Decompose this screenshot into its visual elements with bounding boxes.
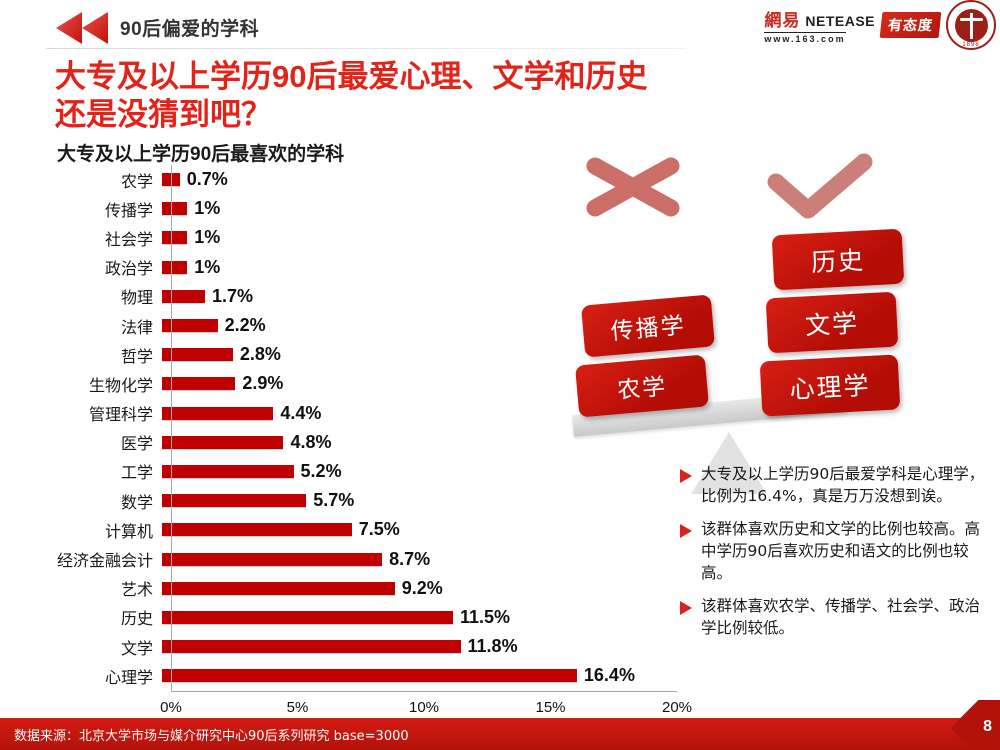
bar-row: 经济金融会计8.7% — [0, 544, 700, 573]
bar-value-label: 1% — [194, 198, 220, 219]
bar-value-label: 11.8% — [468, 636, 518, 657]
bar — [162, 436, 283, 449]
y-axis-line — [171, 165, 172, 691]
list-item: 大专及以上学历90后最爱学科是心理学，比例为16.4%，真是万万没想到诶。 — [680, 463, 990, 507]
bar-value-label: 4.4% — [280, 403, 321, 424]
x-tick-label: 15% — [535, 699, 565, 716]
bar-track: 8.7% — [162, 544, 700, 573]
bar-track: 11.8% — [162, 632, 700, 661]
footer-bar: 数据来源：北京大学市场与媒介研究中心90后系列研究 base=3000 — [0, 718, 1000, 750]
category-label: 法律 — [0, 314, 162, 338]
data-source-label: 数据来源：北京大学市场与媒介研究中心90后系列研究 base=3000 — [14, 725, 409, 744]
bar — [162, 553, 382, 566]
bar-value-label: 1.7% — [212, 286, 253, 307]
tile-right-2: 心理学 — [760, 354, 901, 416]
page-number-label: 8 — [983, 718, 992, 736]
category-label: 管理科学 — [0, 401, 162, 425]
tile-left-0: 传播学 — [581, 294, 715, 357]
category-label: 社会学 — [0, 226, 162, 250]
bar — [162, 465, 294, 478]
peking-university-seal-icon: 1898 — [946, 0, 996, 50]
category-label: 历史 — [0, 605, 162, 629]
category-label: 传播学 — [0, 197, 162, 221]
bar-track: 11.5% — [162, 603, 700, 632]
bar-value-label: 7.5% — [359, 519, 400, 540]
bar-value-label: 11.5% — [460, 607, 510, 628]
bar — [162, 611, 453, 624]
slide: 90后偏爱的学科 網易 NETEASE www.163.com 有态度 1898… — [0, 0, 1000, 750]
bar-track: 9.2% — [162, 574, 700, 603]
attitude-badge: 有态度 — [880, 12, 942, 38]
category-label: 医学 — [0, 430, 162, 454]
cross-mark-icon — [573, 152, 693, 227]
x-tick-label: 5% — [287, 699, 309, 716]
category-label: 数学 — [0, 489, 162, 513]
bar-value-label: 5.7% — [313, 490, 354, 511]
bar-value-label: 0.7% — [187, 169, 228, 190]
bar — [162, 640, 461, 653]
category-label: 政治学 — [0, 255, 162, 279]
bar — [162, 261, 187, 274]
bar-row: 艺术9.2% — [0, 574, 700, 603]
insight-list: 大专及以上学历90后最爱学科是心理学，比例为16.4%，真是万万没想到诶。该群体… — [680, 463, 990, 650]
bar-value-label: 16.4% — [584, 665, 635, 686]
bar-value-label: 2.2% — [225, 315, 266, 336]
netease-en-label: NETEASE — [805, 13, 875, 29]
bar-row: 数学5.7% — [0, 486, 700, 515]
bar — [162, 669, 577, 682]
bar — [162, 290, 205, 303]
x-tick-label: 20% — [662, 699, 692, 716]
bar — [162, 348, 233, 361]
category-label: 生物化学 — [0, 372, 162, 396]
category-label: 文学 — [0, 635, 162, 659]
category-label: 计算机 — [0, 518, 162, 542]
category-label: 农学 — [0, 168, 162, 192]
triangle-bullet-icon — [680, 469, 692, 483]
header-divider — [46, 48, 686, 49]
category-label: 艺术 — [0, 576, 162, 600]
category-label: 物理 — [0, 284, 162, 308]
tile-right-1: 文学 — [766, 292, 899, 354]
bar-row: 历史11.5% — [0, 603, 700, 632]
bar-track: 7.5% — [162, 515, 700, 544]
list-item: 该群体喜欢农学、传播学、社会学、政治学比例较低。 — [680, 595, 990, 639]
x-tick-label: 0% — [160, 699, 182, 716]
netease-url-label: www.163.com — [764, 32, 845, 44]
tile-right-0: 历史 — [772, 229, 905, 291]
list-item-text: 大专及以上学历90后最爱学科是心理学，比例为16.4%，真是万万没想到诶。 — [701, 463, 990, 507]
bar-value-label: 9.2% — [402, 578, 443, 599]
x-axis-line — [171, 691, 677, 692]
bar-value-label: 4.8% — [290, 432, 331, 453]
seal-year-label: 1898 — [948, 42, 994, 48]
chart-subtitle: 大专及以上学历90后最喜欢的学科 — [57, 139, 344, 166]
triangle-bullet-icon — [680, 601, 692, 615]
bar — [162, 377, 235, 390]
triangle-bullet-icon — [680, 524, 692, 538]
category-label: 心理学 — [0, 664, 162, 688]
category-label: 哲学 — [0, 343, 162, 367]
bar-row: 计算机7.5% — [0, 515, 700, 544]
bar-value-label: 2.9% — [242, 373, 283, 394]
bar-row: 心理学16.4% — [0, 661, 700, 690]
category-label: 工学 — [0, 459, 162, 483]
bar-track: 16.4% — [162, 661, 700, 690]
page-title: 大专及以上学历90后最爱心理、文学和历史 还是没猜到吧？ — [55, 58, 775, 134]
netease-logo: 網易 NETEASE www.163.com — [764, 6, 875, 44]
bar — [162, 202, 187, 215]
bar-value-label: 2.8% — [240, 344, 281, 365]
list-item: 该群体喜欢历史和文学的比例也较高。高中学历90后喜欢历史和语文的比例也较高。 — [680, 518, 990, 584]
category-label: 经济金融会计 — [0, 547, 162, 571]
bar — [162, 407, 273, 420]
check-mark-icon — [760, 152, 880, 227]
bar — [162, 582, 395, 595]
list-item-text: 该群体喜欢农学、传播学、社会学、政治学比例较低。 — [701, 595, 990, 639]
bar-row: 文学11.8% — [0, 632, 700, 661]
bar-value-label: 1% — [194, 257, 220, 278]
logo-group: 網易 NETEASE www.163.com 有态度 1898 — [764, 2, 996, 48]
balance-illustration: 传播学 农学 历史 文学 心理学 — [555, 150, 1000, 480]
bar-value-label: 5.2% — [301, 461, 342, 482]
bar — [162, 523, 352, 536]
bar-track: 5.7% — [162, 486, 700, 515]
bar-value-label: 1% — [194, 227, 220, 248]
bar-value-label: 8.7% — [389, 549, 430, 570]
list-item-text: 该群体喜欢历史和文学的比例也较高。高中学历90后喜欢历史和语文的比例也较高。 — [701, 518, 990, 584]
header-kicker: 90后偏爱的学科 — [120, 14, 259, 41]
double-left-triangle-icon — [52, 8, 114, 48]
bar — [162, 231, 187, 244]
x-tick-label: 10% — [409, 699, 439, 716]
bar — [162, 494, 306, 507]
netease-cn-label: 網易 — [764, 6, 800, 31]
